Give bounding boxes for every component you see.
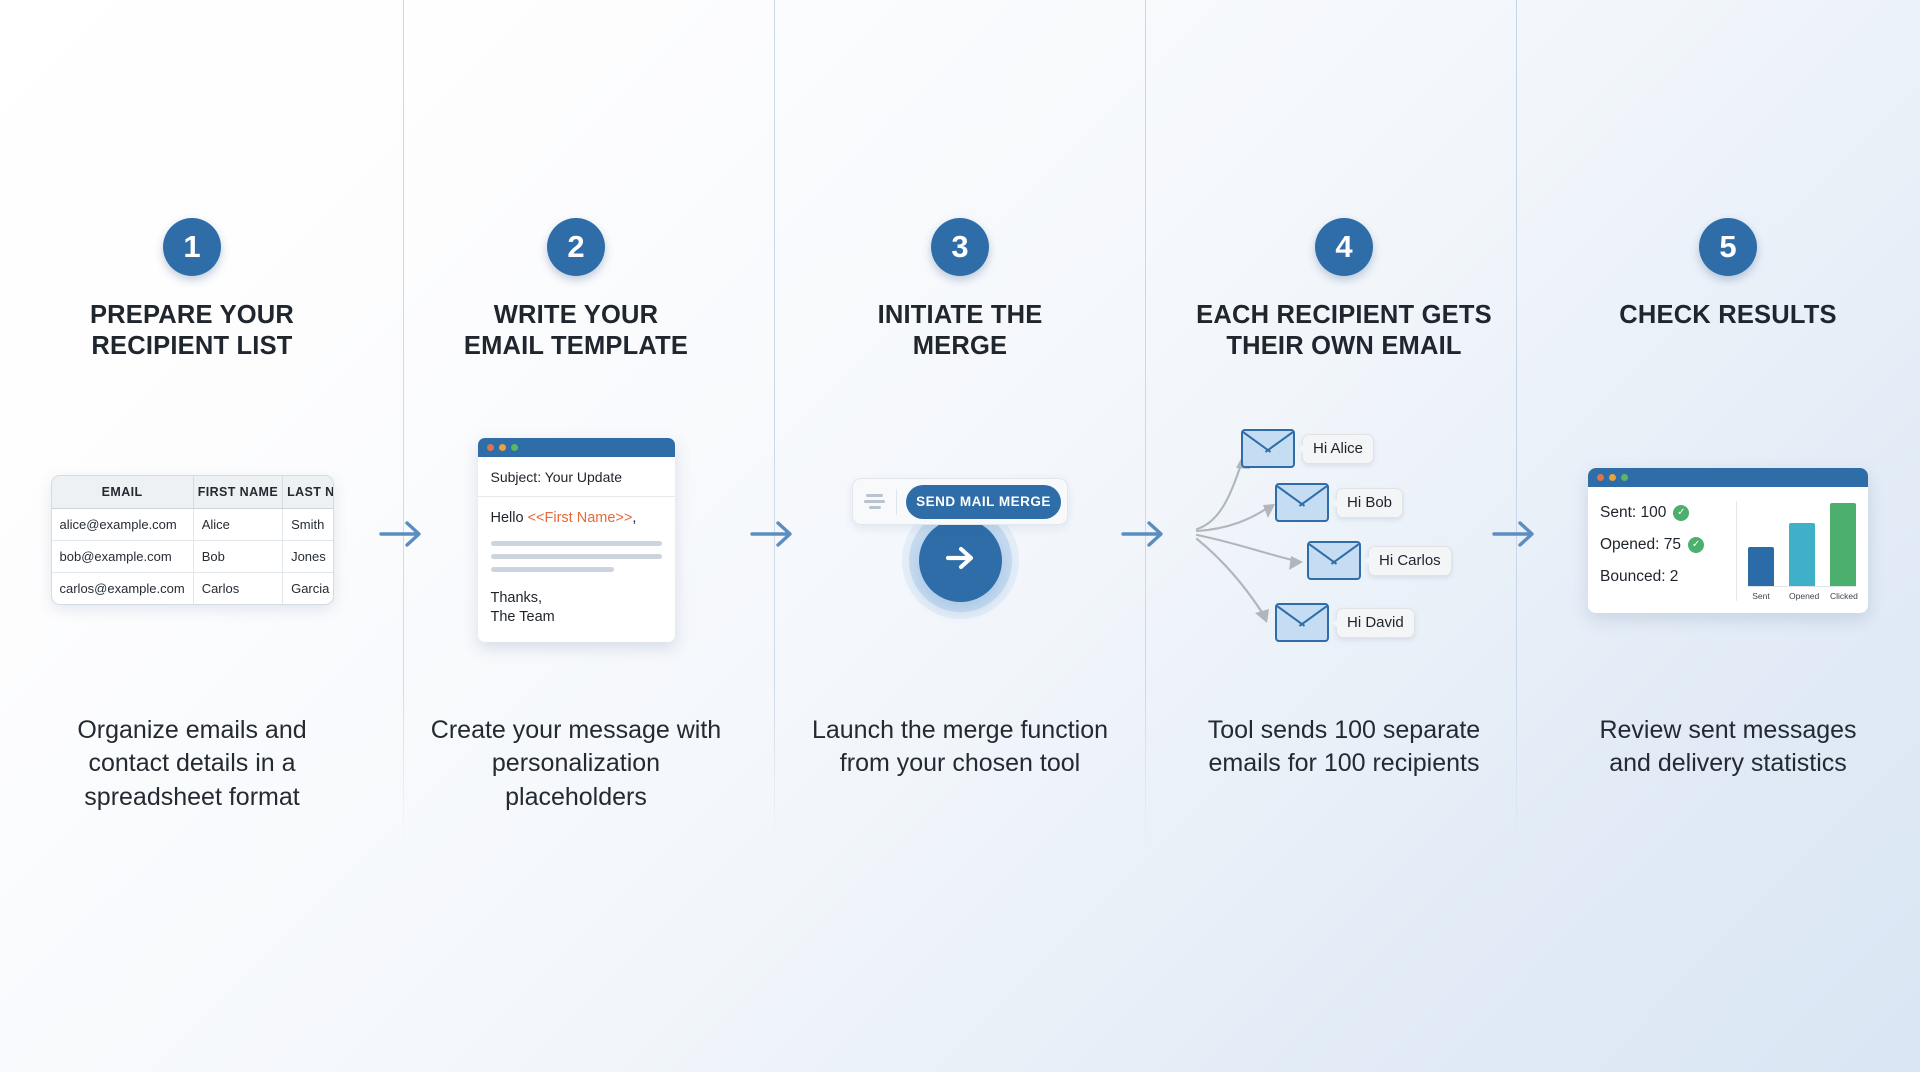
stat-opened: Opened: 75 ✓ xyxy=(1600,536,1726,554)
step-visual-1: EMAIL FIRST NAME LAST NAME alice@example… xyxy=(0,415,384,665)
send-mail-merge-button[interactable]: SEND MAIL MERGE xyxy=(906,485,1061,519)
recipient-greeting-bubble: Hi David xyxy=(1336,608,1415,638)
body-text-placeholder-line xyxy=(491,541,662,546)
envelope-icon xyxy=(1241,429,1295,468)
recipient-item: Hi Carlos xyxy=(1307,541,1452,580)
step-caption-5: Review sent messages and delivery statis… xyxy=(1578,714,1878,781)
email-signoff: Thanks, The Team xyxy=(491,589,662,626)
column-header-first-name: FIRST NAME xyxy=(193,476,282,509)
step-column-4: 4 EACH RECIPIENT GETS THEIR OWN EMAIL xyxy=(1152,0,1536,852)
step-heading-3-line1: INITIATE THE xyxy=(795,300,1125,331)
step-heading-2-line1: WRITE YOUR xyxy=(411,300,741,331)
cell-last-name: Jones xyxy=(283,541,334,573)
chart-label-sent: Sent xyxy=(1748,591,1774,601)
signoff-line2: The Team xyxy=(491,608,662,627)
envelope-icon xyxy=(1275,483,1329,522)
step-heading-1: PREPARE YOUR RECIPIENT LIST xyxy=(27,300,357,362)
chart-label-opened: Opened xyxy=(1789,591,1815,601)
recipient-item: Hi Bob xyxy=(1275,483,1403,522)
envelope-icon xyxy=(1307,541,1361,580)
step-heading-5: CHECK RESULTS xyxy=(1563,300,1893,331)
chart-bar-clicked xyxy=(1830,503,1856,585)
recipient-greeting-bubble: Hi Alice xyxy=(1302,434,1374,464)
body-text-placeholder-line xyxy=(491,554,662,559)
step-badge-3: 3 xyxy=(931,218,989,276)
cell-email: bob@example.com xyxy=(52,541,194,573)
window-title-bar xyxy=(478,438,675,457)
table-row: alice@example.com Alice Smith xyxy=(52,509,334,541)
step-visual-5: Sent: 100 ✓ Opened: 75 ✓ Bounced: 2 xyxy=(1536,415,1920,665)
check-circle-icon: ✓ xyxy=(1688,537,1704,553)
stat-sent-label: Sent: 100 xyxy=(1600,504,1666,522)
step-column-2: 2 WRITE YOUR EMAIL TEMPLATE Subject: You… xyxy=(384,0,768,852)
email-template-window[interactable]: Subject: Your Update Hello <<First Name>… xyxy=(478,438,675,642)
chart-bar-sent xyxy=(1748,547,1774,585)
window-maximize-icon[interactable] xyxy=(511,444,518,451)
step-heading-1-line1: PREPARE YOUR xyxy=(27,300,357,331)
window-maximize-icon[interactable] xyxy=(1621,474,1628,481)
step-heading-3-line2: MERGE xyxy=(795,331,1125,362)
window-close-icon[interactable] xyxy=(1597,474,1604,481)
recipient-greeting-bubble: Hi Bob xyxy=(1336,488,1403,518)
step-badge-5: 5 xyxy=(1699,218,1757,276)
infographic-canvas: 1 PREPARE YOUR RECIPIENT LIST EMAIL FIRS… xyxy=(0,0,1920,1072)
step-visual-3: SEND MAIL MERGE xyxy=(768,415,1152,665)
step-column-3: 3 INITIATE THE MERGE SEND MAIL MERGE xyxy=(768,0,1152,852)
chart-category-labels: SentOpenedClicked xyxy=(1748,591,1856,601)
body-text-placeholder-line xyxy=(491,567,614,572)
recipient-item: Hi Alice xyxy=(1241,429,1374,468)
step-heading-2: WRITE YOUR EMAIL TEMPLATE xyxy=(411,300,741,362)
step-caption-1: Organize emails and contact details in a… xyxy=(42,714,342,814)
step-column-1: 1 PREPARE YOUR RECIPIENT LIST EMAIL FIRS… xyxy=(0,0,384,852)
table-row: carlos@example.com Carlos Garcia xyxy=(52,573,334,605)
table-header-row: EMAIL FIRST NAME LAST NAME xyxy=(52,476,334,509)
arrow-right-icon xyxy=(938,536,982,585)
email-greeting: Hello <<First Name>>, xyxy=(491,510,662,526)
step-badge-1: 1 xyxy=(163,218,221,276)
greeting-suffix: , xyxy=(632,510,636,526)
step-column-5: 5 CHECK RESULTS Sent: 100 ✓ xyxy=(1536,0,1920,852)
cell-last-name: Garcia xyxy=(283,573,334,605)
cell-first-name: Bob xyxy=(193,541,282,573)
merge-field-placeholder: <<First Name>> xyxy=(528,510,633,526)
column-header-last-name: LAST NAME xyxy=(283,476,334,509)
delivery-stats-list: Sent: 100 ✓ Opened: 75 ✓ Bounced: 2 xyxy=(1600,501,1726,601)
cell-first-name: Alice xyxy=(193,509,282,541)
results-body: Sent: 100 ✓ Opened: 75 ✓ Bounced: 2 xyxy=(1588,487,1868,613)
column-header-email: EMAIL xyxy=(52,476,194,509)
window-title-bar xyxy=(1588,468,1868,487)
step-visual-2: Subject: Your Update Hello <<First Name>… xyxy=(384,415,768,665)
cell-email: carlos@example.com xyxy=(52,573,194,605)
step-heading-4: EACH RECIPIENT GETS THEIR OWN EMAIL xyxy=(1179,300,1509,362)
cell-email: alice@example.com xyxy=(52,509,194,541)
results-window[interactable]: Sent: 100 ✓ Opened: 75 ✓ Bounced: 2 xyxy=(1588,468,1868,613)
window-minimize-icon[interactable] xyxy=(499,444,506,451)
recipient-fanout: Hi Alice Hi Bob Hi Carlos Hi David xyxy=(1189,425,1499,655)
signoff-line1: Thanks, xyxy=(491,589,662,608)
step-badge-2: 2 xyxy=(547,218,605,276)
step-heading-2-line2: EMAIL TEMPLATE xyxy=(411,331,741,362)
chart-label-clicked: Clicked xyxy=(1830,591,1856,601)
chart-bar-opened xyxy=(1789,523,1815,585)
step-caption-3: Launch the merge function from your chos… xyxy=(810,714,1110,781)
step-heading-4-line2: THEIR OWN EMAIL xyxy=(1179,331,1509,362)
step-badge-4: 4 xyxy=(1315,218,1373,276)
window-minimize-icon[interactable] xyxy=(1609,474,1616,481)
recipient-greeting-bubble: Hi Carlos xyxy=(1368,546,1452,576)
merge-toolbar-group: SEND MAIL MERGE xyxy=(768,478,1152,602)
step-visual-4: Hi Alice Hi Bob Hi Carlos Hi David xyxy=(1152,415,1536,665)
chart-bars xyxy=(1748,501,1856,587)
recipient-spreadsheet[interactable]: EMAIL FIRST NAME LAST NAME alice@example… xyxy=(51,475,334,605)
email-subject-line: Subject: Your Update xyxy=(478,457,675,497)
launch-merge-action-button[interactable] xyxy=(919,519,1002,602)
step-caption-4: Tool sends 100 separate emails for 100 r… xyxy=(1194,714,1494,781)
stat-opened-label: Opened: 75 xyxy=(1600,536,1681,554)
merge-toolbar: SEND MAIL MERGE xyxy=(852,478,1068,525)
cell-first-name: Carlos xyxy=(193,573,282,605)
stat-sent: Sent: 100 ✓ xyxy=(1600,504,1726,522)
stat-bounced-label: Bounced: 2 xyxy=(1600,568,1678,586)
step-caption-2: Create your message with personalization… xyxy=(426,714,726,814)
step-heading-5-line1: CHECK RESULTS xyxy=(1563,300,1893,331)
step-heading-1-line2: RECIPIENT LIST xyxy=(27,331,357,362)
window-close-icon[interactable] xyxy=(487,444,494,451)
envelope-icon xyxy=(1275,603,1329,642)
greeting-prefix: Hello xyxy=(491,510,528,526)
recipient-table: EMAIL FIRST NAME LAST NAME alice@example… xyxy=(52,476,334,604)
email-body: Hello <<First Name>>, Thanks, The Team xyxy=(478,497,675,642)
table-row: bob@example.com Bob Jones xyxy=(52,541,334,573)
cell-last-name: Smith xyxy=(283,509,334,541)
check-circle-icon: ✓ xyxy=(1673,505,1689,521)
step-heading-3: INITIATE THE MERGE xyxy=(795,300,1125,362)
stat-bounced: Bounced: 2 xyxy=(1600,568,1726,586)
recipient-item: Hi David xyxy=(1275,603,1415,642)
step-heading-4-line1: EACH RECIPIENT GETS xyxy=(1179,300,1509,331)
list-lines-icon[interactable] xyxy=(853,489,897,515)
results-bar-chart: SentOpenedClicked xyxy=(1736,501,1856,601)
